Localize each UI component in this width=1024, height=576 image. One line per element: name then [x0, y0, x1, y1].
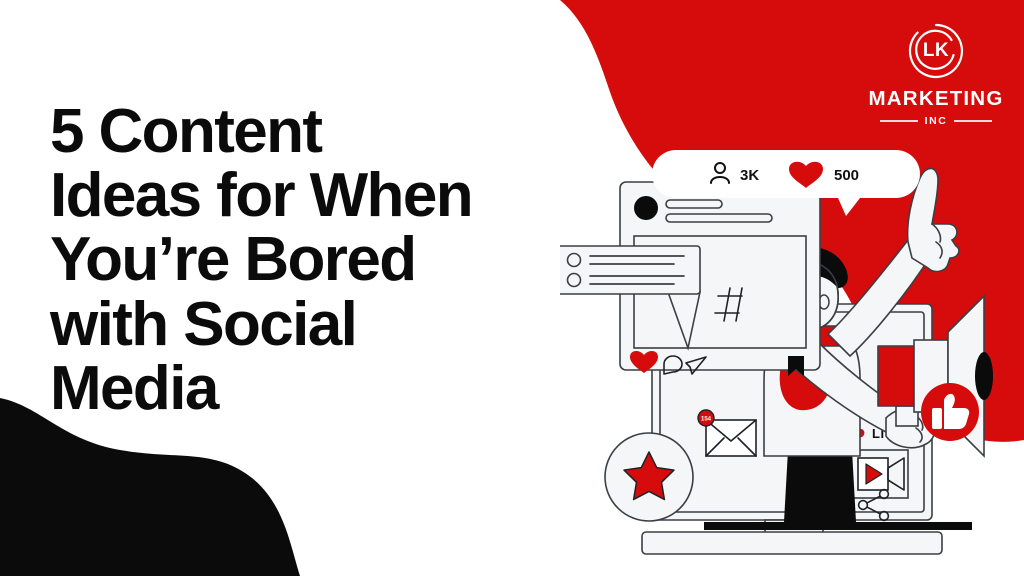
- brand-logo: LK MARKETING INC: [874, 22, 998, 127]
- post-name-line-1: [666, 200, 722, 208]
- followers-count: 3K: [740, 167, 759, 184]
- logo-mark: LK: [907, 22, 965, 80]
- logo-suffix-row: INC: [880, 115, 992, 127]
- character-trousers: [784, 450, 856, 522]
- logo-rule-right: [954, 120, 992, 122]
- social-media-illustration: .ln{fill:none;stroke:#3a3f45;stroke-widt…: [560, 150, 1024, 576]
- black-blob-shape: [0, 398, 300, 576]
- logo-suffix: INC: [925, 115, 948, 127]
- thumbs-up-badge: [921, 383, 979, 441]
- logo-wordmark: MARKETING: [869, 87, 1004, 111]
- logo-rule-left: [880, 120, 918, 122]
- video-camera-icon: [850, 450, 908, 498]
- poster-canvas: 5 Content Ideas for When You’re Bored wi…: [0, 0, 1024, 576]
- envelope-icon: [706, 420, 756, 456]
- likes-count: 500: [834, 167, 859, 184]
- megaphone-segment-red: [878, 346, 914, 406]
- post-name-line-2: [666, 214, 772, 222]
- monitor-base: [642, 532, 942, 554]
- envelope-badge: 154: [698, 410, 714, 426]
- logo-monogram: LK: [907, 22, 965, 80]
- megaphone-mouth: [975, 352, 993, 400]
- page-title: 5 Content Ideas for When You’re Bored wi…: [50, 100, 620, 422]
- post-avatar: [634, 196, 658, 220]
- envelope-badge-count: 154: [701, 417, 712, 423]
- star-badge: [605, 433, 693, 521]
- monitor-shadow-strip: [704, 522, 972, 530]
